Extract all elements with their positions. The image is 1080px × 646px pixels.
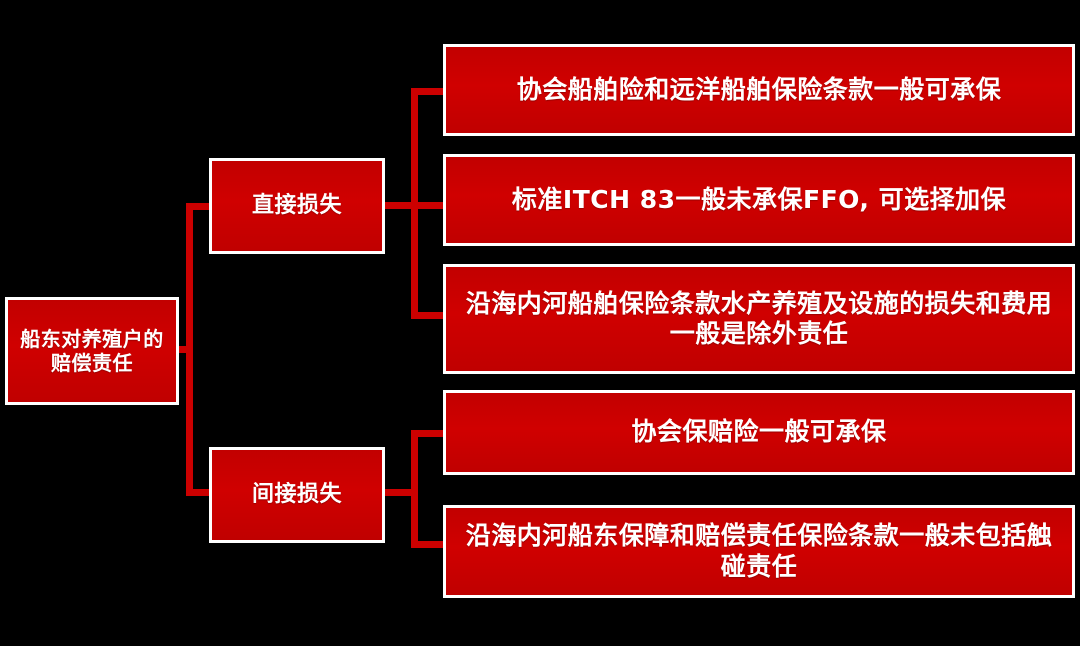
- node-leaf-direct-3[interactable]: 沿海内河船舶保险条款水产养殖及设施的损失和费用一般是除外责任: [443, 264, 1075, 374]
- node-indirect-loss-label: 间接损失: [212, 482, 382, 509]
- diagram-canvas: 船东对养殖户的赔偿责任 直接损失 间接损失 协会船舶险和远洋船舶保险条款一般可承…: [0, 0, 1080, 646]
- connector-direct-to-leaf-3: [411, 312, 447, 319]
- connector-root-spine: [186, 203, 193, 496]
- node-indirect-loss[interactable]: 间接损失: [209, 447, 385, 543]
- connector-indirect-to-leaf-4: [411, 430, 447, 437]
- node-leaf-indirect-1-label: 协会保赔险一般可承保: [446, 417, 1072, 448]
- node-leaf-direct-1-label: 协会船舶险和远洋船舶保险条款一般可承保: [446, 75, 1072, 106]
- node-leaf-indirect-2-label: 沿海内河船东保障和赔偿责任保险条款一般未包括触碰责任: [446, 521, 1072, 582]
- node-leaf-direct-3-label: 沿海内河船舶保险条款水产养殖及设施的损失和费用一般是除外责任: [446, 289, 1072, 350]
- node-root[interactable]: 船东对养殖户的赔偿责任: [5, 297, 179, 405]
- node-leaf-direct-2-label: 标准ITCH 83一般未承保FFO, 可选择加保: [446, 185, 1072, 216]
- node-direct-loss[interactable]: 直接损失: [209, 158, 385, 254]
- node-leaf-indirect-1[interactable]: 协会保赔险一般可承保: [443, 390, 1075, 475]
- connector-indirect-spine: [411, 430, 418, 548]
- node-root-label: 船东对养殖户的赔偿责任: [8, 327, 176, 376]
- connector-direct-to-leaf-2: [411, 202, 447, 209]
- node-leaf-indirect-2[interactable]: 沿海内河船东保障和赔偿责任保险条款一般未包括触碰责任: [443, 505, 1075, 598]
- node-leaf-direct-2[interactable]: 标准ITCH 83一般未承保FFO, 可选择加保: [443, 154, 1075, 246]
- node-leaf-direct-1[interactable]: 协会船舶险和远洋船舶保险条款一般可承保: [443, 44, 1075, 136]
- node-direct-loss-label: 直接损失: [212, 193, 382, 220]
- connector-direct-to-leaf-1: [411, 88, 447, 95]
- connector-indirect-to-leaf-5: [411, 541, 447, 548]
